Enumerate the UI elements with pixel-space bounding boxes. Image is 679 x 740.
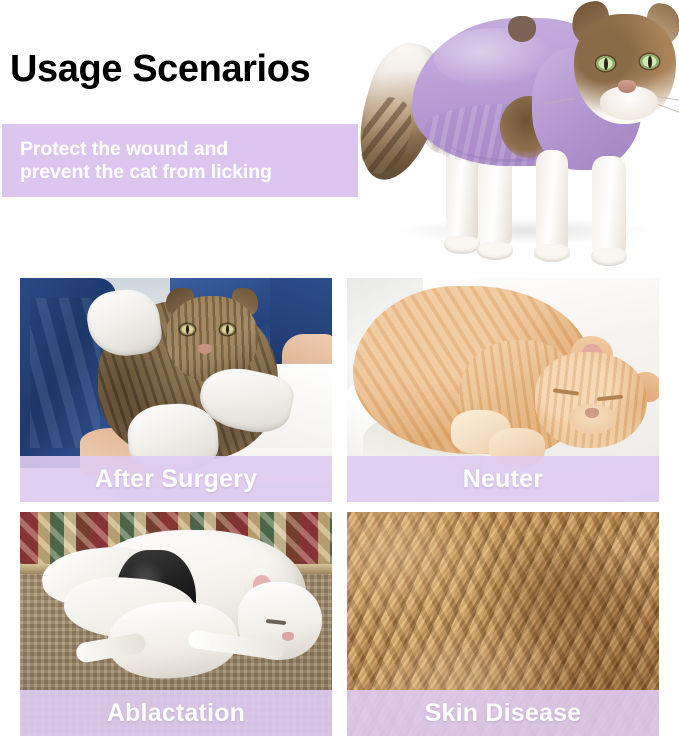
scenario-card-after-surgery: After Surgery: [20, 278, 332, 502]
scenario-label-ablactation: Ablactation: [20, 690, 332, 736]
tagline-line-2: prevent the cat from licking: [20, 161, 358, 184]
cat-paw-3: [444, 236, 480, 254]
tagline-banner: Protect the wound and prevent the cat fr…: [2, 124, 358, 197]
hero-section: Usage Scenarios Protect the wound and pr…: [0, 0, 679, 272]
ginger-cat-nose: [585, 408, 599, 418]
cat-paw-1: [534, 244, 570, 262]
cat-paw-2: [591, 248, 627, 266]
tabby-eye-left: [180, 324, 195, 335]
scenario-label-text: After Surgery: [95, 465, 257, 494]
scenario-label-skin-disease: Skin Disease: [347, 690, 659, 736]
scenario-card-neuter: Neuter: [347, 278, 659, 502]
scenario-card-ablactation: Ablactation: [20, 512, 332, 736]
hero-product-photo: [360, 0, 679, 268]
page-title: Usage Scenarios: [10, 50, 310, 88]
scenario-label-text: Neuter: [463, 465, 543, 494]
tabby-eye-right: [220, 324, 235, 335]
cat-paw-4: [477, 242, 513, 260]
scenario-label-text: Skin Disease: [425, 699, 582, 728]
scenario-grid: After Surgery Neuter: [20, 278, 659, 736]
cat-front-leg-far: [536, 150, 568, 256]
cat-eye-left: [596, 56, 615, 71]
tabby-nose: [198, 344, 212, 354]
cat-nose: [618, 80, 636, 93]
recovery-suit-armhole: [508, 16, 536, 42]
cat-whisker-2: [658, 104, 679, 115]
mother-cat-nose: [282, 632, 294, 641]
tagline-line-1: Protect the wound and: [20, 138, 358, 161]
scenario-card-skin-disease: Skin Disease: [347, 512, 659, 736]
scenario-label-neuter: Neuter: [347, 456, 659, 502]
cat-front-leg-near: [592, 156, 626, 260]
scenario-label-text: Ablactation: [107, 699, 245, 728]
scenario-label-after-surgery: After Surgery: [20, 456, 332, 502]
cat-eye-right: [640, 54, 659, 69]
